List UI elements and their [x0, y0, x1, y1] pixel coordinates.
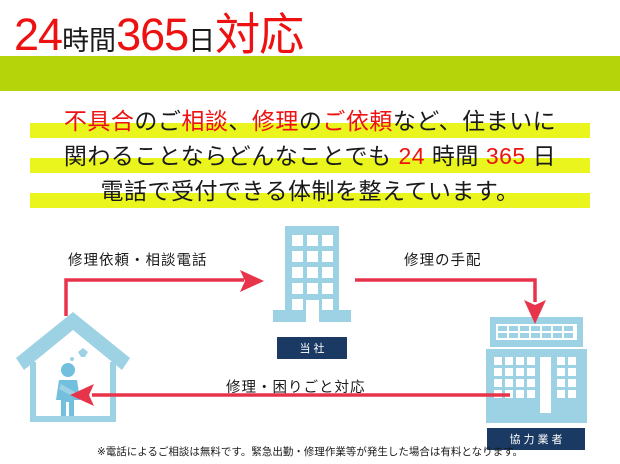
page-title: 24 時間 365 日 対応 [14, 12, 303, 64]
lead-run: 365 [486, 143, 526, 169]
lead-run: など、住まいに [393, 108, 556, 134]
lead-line-1-text: 不具合のご相談、修理のご依頼など、住まいに [64, 110, 556, 133]
title-days-number: 365 [116, 12, 188, 57]
lead-run: 不具合 [64, 108, 135, 134]
footnote-text: ※電話によるご相談は無料です。緊急出勤・修理作業等が発生した場合は有料となります… [0, 444, 620, 459]
lead-run: 、 [228, 108, 252, 134]
title-hours-unit: 時間 [62, 28, 116, 55]
title-days-unit: 日 [188, 28, 215, 55]
lead-run: の [299, 108, 323, 134]
lead-run: 電話で受付できる体制を整えています。 [100, 178, 519, 204]
title-hours-number: 24 [14, 12, 62, 57]
lead-run: 修理 [252, 108, 299, 134]
lead-line-1: 不具合のご相談、修理のご依頼など、住まいに [0, 104, 620, 139]
lead-run: 日 [526, 143, 556, 169]
lead-line-3-text: 電話で受付できる体制を整えています。 [100, 180, 519, 203]
arrow-label-repair-dispatch: 修理の手配 [404, 249, 482, 270]
factory-building-icon [484, 315, 589, 427]
lead-run: 24 [398, 143, 425, 169]
lead-line-3: 電話で受付できる体制を整えています。 [0, 174, 620, 209]
lead-run: ご依頼 [322, 108, 393, 134]
lead-line-2: 関わることならどんなことでも 24 時間 365 日 [0, 139, 620, 174]
office-building-icon [271, 224, 353, 336]
title-support-word: 対応 [215, 12, 303, 57]
lead-run: 時間 [425, 143, 486, 169]
lead-run: 相談 [181, 108, 228, 134]
service-flow-diagram: 修理依頼・相談電話 修理の手配 修理・困りごと対応 当社 協力業者 [0, 222, 620, 442]
arrow-label-repair-response: 修理・困りごと対応 [226, 376, 366, 397]
lead-run: 関わることならどんなことでも [64, 143, 399, 169]
lead-paragraph: 不具合のご相談、修理のご依頼など、住まいに 関わることならどんなことでも 24 … [0, 104, 620, 209]
lead-run: のご [134, 108, 181, 134]
arrow-label-repair-request: 修理依頼・相談電話 [68, 249, 208, 270]
lead-line-2-text: 関わることならどんなことでも 24 時間 365 日 [64, 145, 556, 168]
tag-company: 当社 [277, 337, 347, 359]
